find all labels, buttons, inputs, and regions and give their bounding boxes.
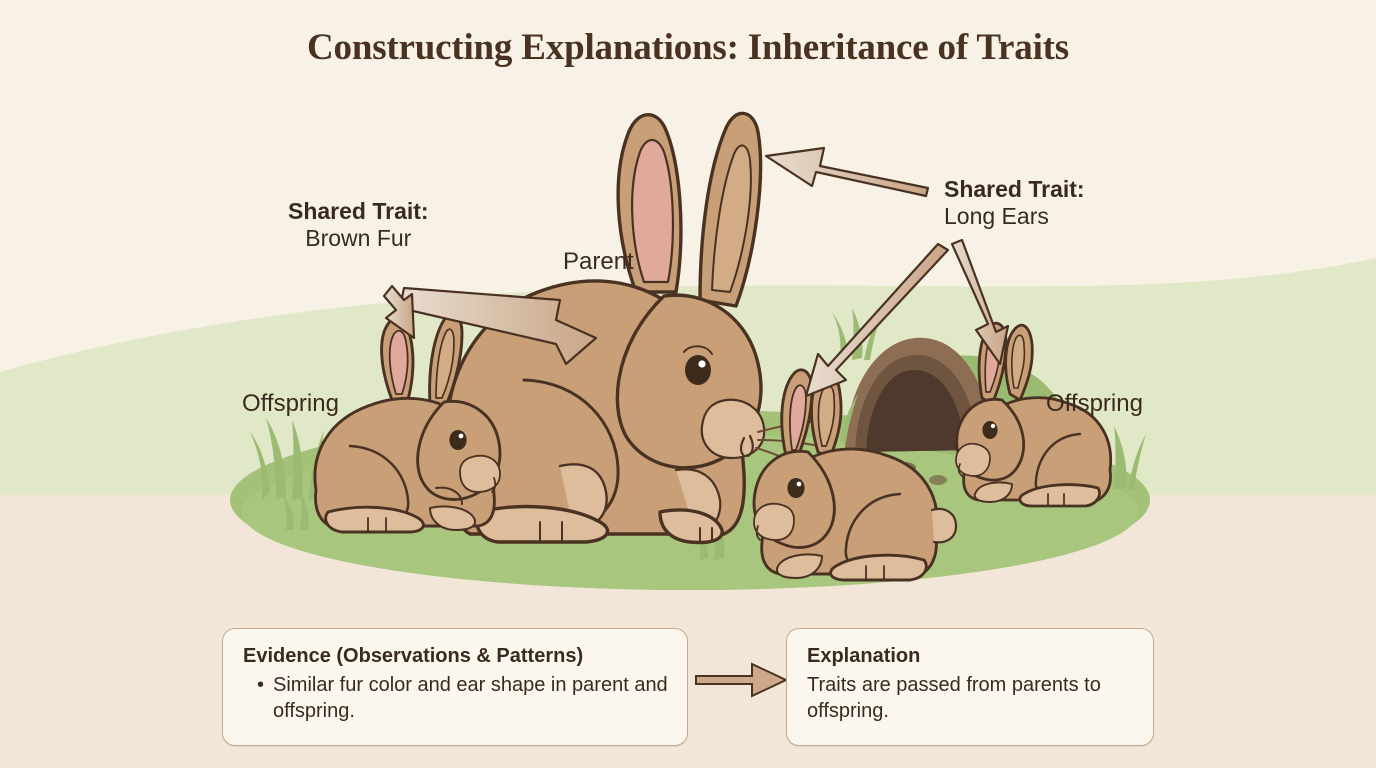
explanation-card: Explanation Traits are passed from paren… (786, 628, 1154, 746)
label-offspring-right: Offspring (1046, 390, 1143, 418)
illustration-canvas: Constructing Explanations: Inheritance o… (0, 0, 1376, 768)
label-offspring-left: Offspring (242, 390, 339, 418)
label-shared-trait-long-ears: Shared Trait: Long Ears (944, 176, 1085, 229)
label-parent: Parent (563, 248, 634, 276)
bullet-icon: • (257, 673, 264, 724)
label-shared-trait-brown-fur-value: Brown Fur (288, 225, 429, 252)
arrow-to-parent-ear (766, 148, 928, 196)
evidence-card: Evidence (Observations & Patterns) • Sim… (222, 628, 688, 746)
evidence-bullet-item: • Similar fur color and ear shape in par… (243, 673, 669, 724)
evidence-bullet-text: Similar fur color and ear shape in paren… (273, 673, 669, 724)
label-shared-trait-long-ears-lead: Shared Trait: (944, 176, 1085, 203)
arrow-right-icon (696, 664, 786, 696)
explanation-card-body: Traits are passed from parents to offspr… (807, 673, 1135, 724)
label-shared-trait-brown-fur: Shared Trait: Brown Fur (288, 198, 429, 251)
label-shared-trait-long-ears-value: Long Ears (944, 203, 1085, 230)
cards-connector-arrow (694, 656, 790, 704)
evidence-card-title: Evidence (Observations & Patterns) (243, 645, 669, 668)
scene-layer (0, 0, 1376, 768)
explanation-card-title: Explanation (807, 645, 1135, 668)
label-shared-trait-brown-fur-lead: Shared Trait: (288, 198, 429, 225)
